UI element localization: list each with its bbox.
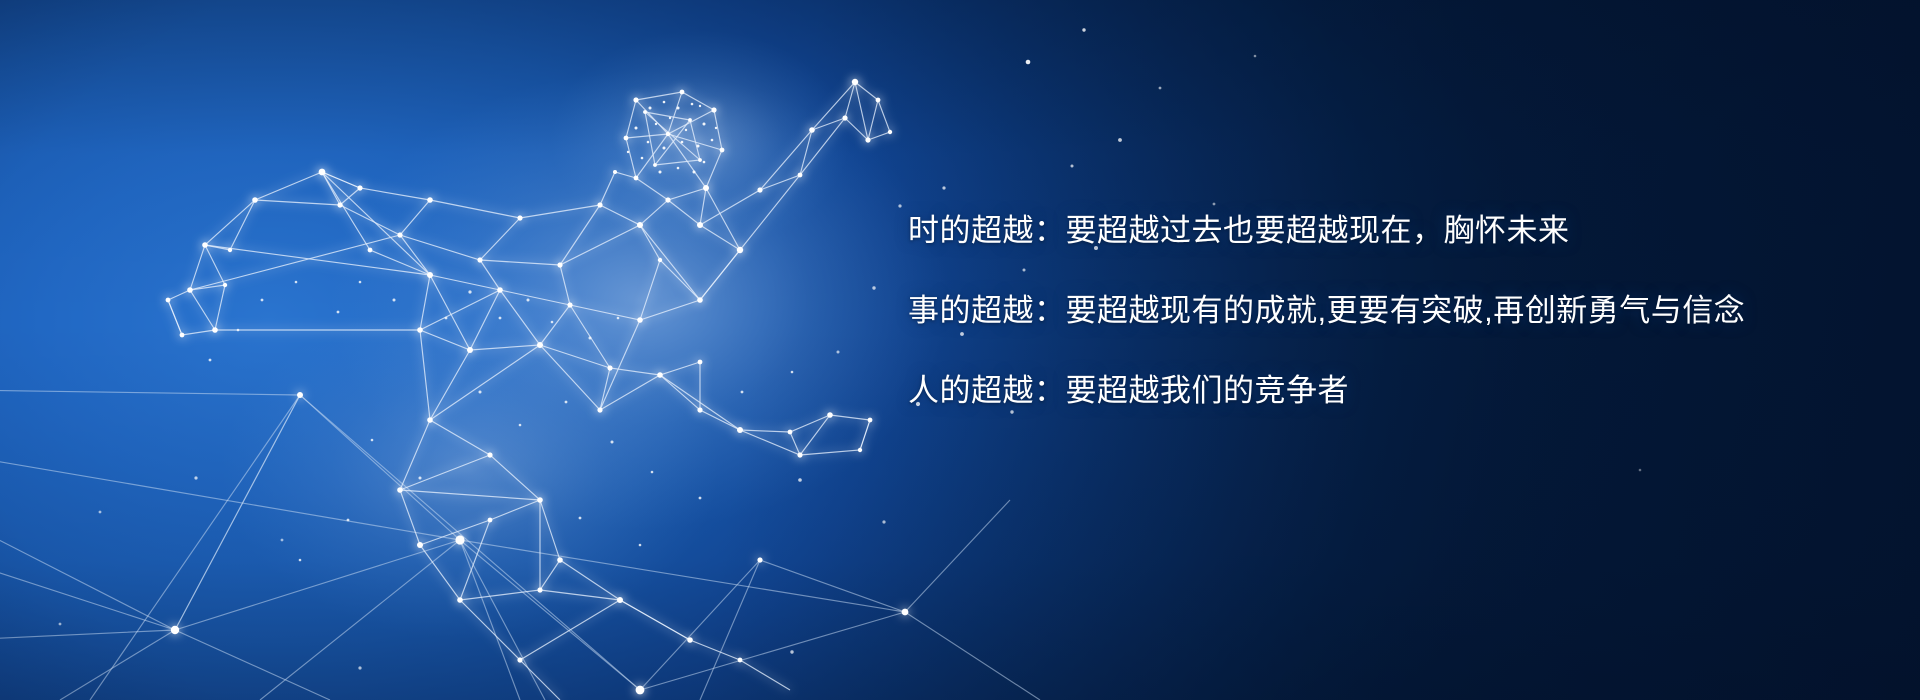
tagline-block: 时的超越：要超越过去也要超越现在，胸怀未来 事的超越：要超越现有的成就,更要有突…: [908, 215, 1808, 406]
tagline-work: 事的超越：要超越现有的成就,更要有突破,再创新勇气与信念: [908, 295, 1808, 326]
hero-banner: 时的超越：要超越过去也要超越现在，胸怀未来 事的超越：要超越现有的成就,更要有突…: [0, 0, 1920, 700]
tagline-time: 时的超越：要超越过去也要超越现在，胸怀未来: [908, 215, 1808, 246]
tagline-people: 人的超越：要超越我们的竞争者: [908, 375, 1808, 406]
